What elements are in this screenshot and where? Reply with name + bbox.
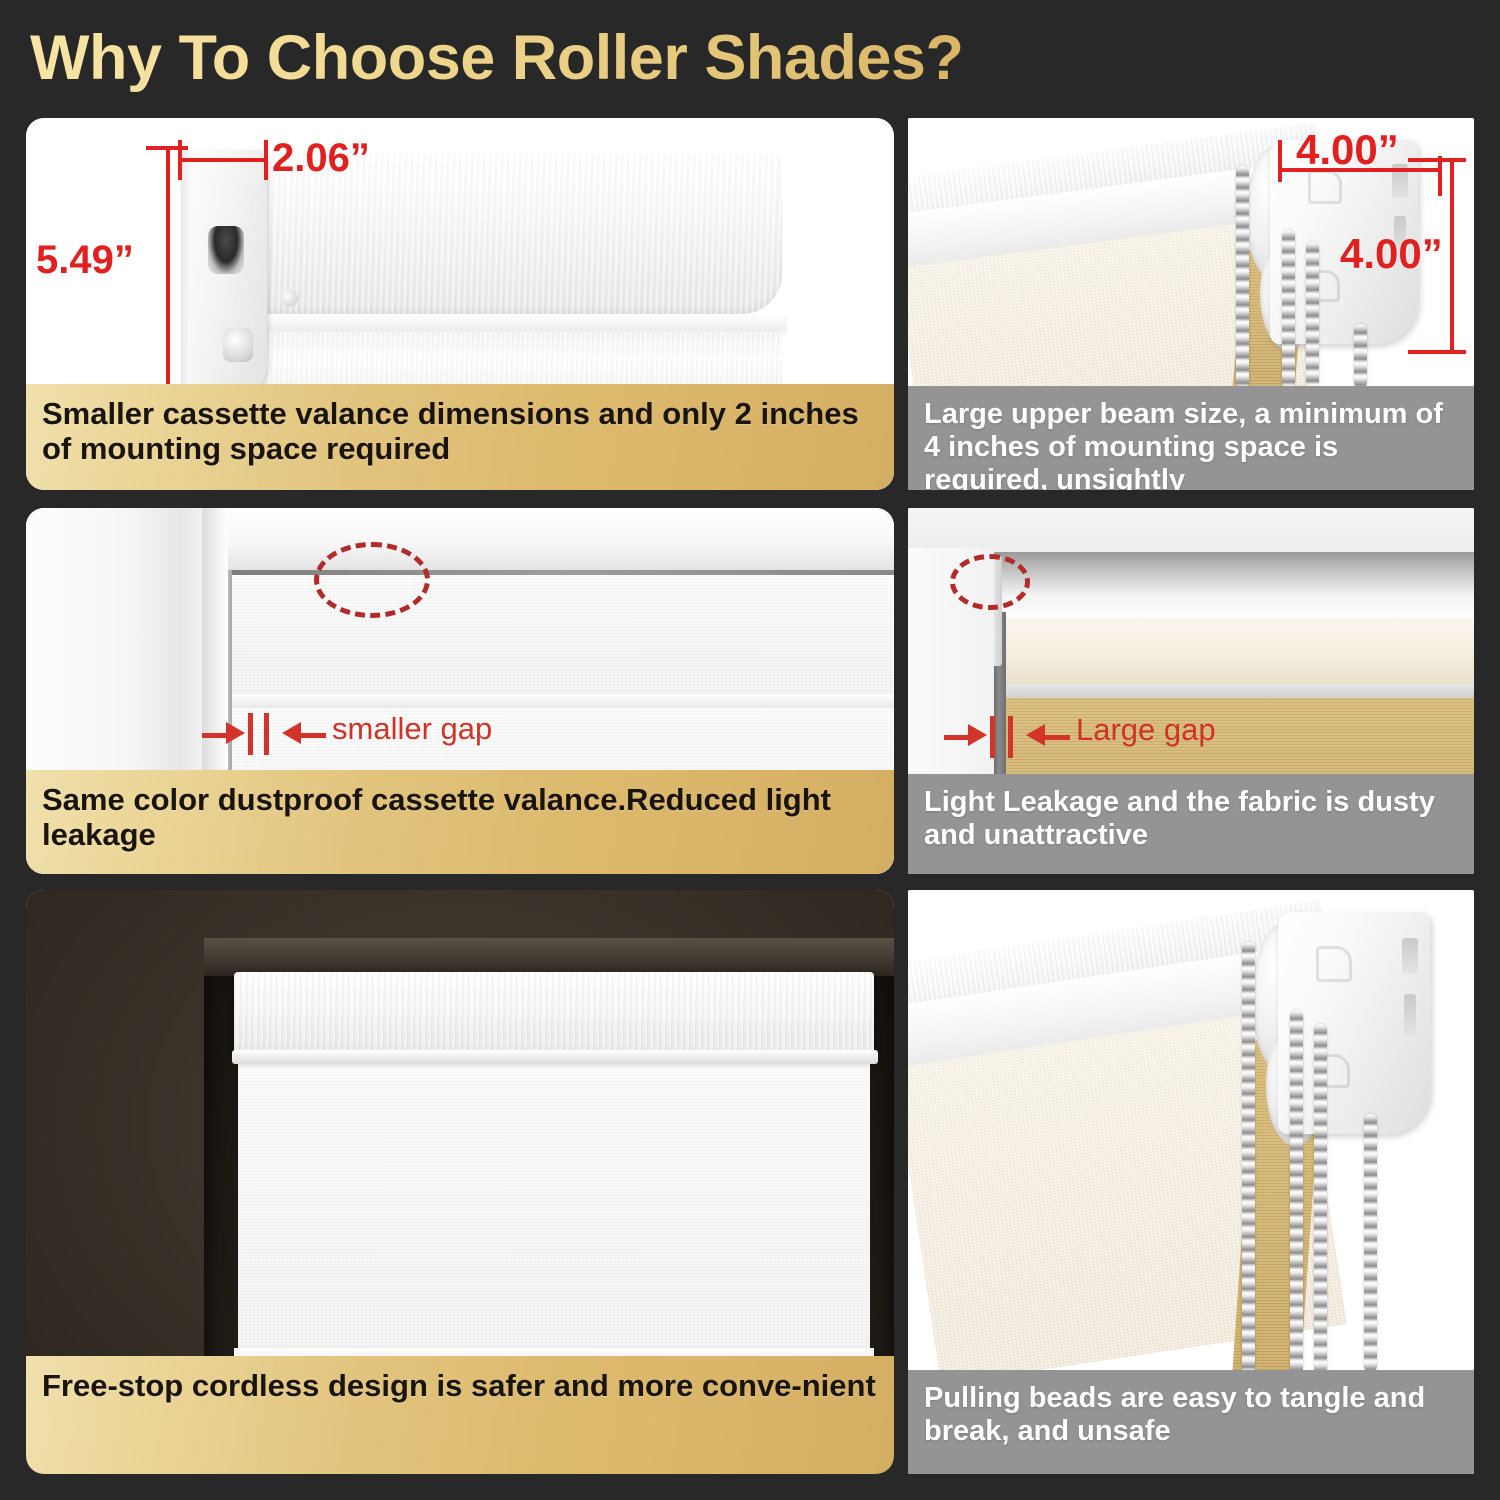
bead-chain-icon — [1290, 1010, 1303, 1374]
height-dimension-label: 5.49” — [36, 238, 134, 283]
bead-chain-icon — [1242, 942, 1255, 1374]
bead-chain-icon — [1354, 324, 1367, 388]
screw-boss-icon — [223, 328, 253, 362]
panel-con-large-upper-beam: 4.00” 4.00” Large upper beam size, a min… — [908, 118, 1474, 490]
highlight-ellipse-icon — [314, 542, 430, 618]
panel-pro-cordless-design: Free-stop cordless design is safer and m… — [26, 890, 894, 1474]
gap-callout-label: smaller gap — [332, 711, 492, 747]
panel-caption-pro-cassette-dimensions: Smaller cassette valance dimensions and … — [26, 384, 894, 490]
bead-chain-icon — [1314, 1024, 1327, 1374]
panel-pro-dustproof-valance: smaller gap Same color dustproof cassett… — [26, 508, 894, 874]
highlight-ellipse-icon — [950, 554, 1030, 610]
panel-caption-pro-cordless-design: Free-stop cordless design is safer and m… — [26, 1356, 894, 1474]
panel-con-pulling-beads: Pulling beads are easy to tangle and bre… — [908, 890, 1474, 1474]
gap-callout-label: Large gap — [1076, 712, 1216, 748]
bead-chain-icon — [1282, 230, 1295, 388]
panel-caption-con-large-upper-beam: Large upper beam size, a minimum of 4 in… — [908, 386, 1474, 490]
screw-icon — [281, 290, 298, 307]
panel-con-light-leakage: Large gap Light Leakage and the fabric i… — [908, 508, 1474, 874]
panel-caption-con-pulling-beads: Pulling beads are easy to tangle and bre… — [908, 1370, 1474, 1474]
bead-chain-icon — [1364, 1114, 1377, 1372]
bead-chain-icon — [1236, 166, 1249, 388]
width-dimension-label: 4.00” — [1296, 126, 1399, 174]
comparison-grid: 2.06” 5.49” Smaller cassette valance dim… — [0, 0, 1500, 1500]
bead-chain-icon — [1306, 242, 1319, 388]
panel-caption-con-light-leakage: Light Leakage and the fabric is dusty an… — [908, 774, 1474, 874]
width-dimension-label: 2.06” — [272, 136, 370, 181]
height-dimension-label: 4.00” — [1340, 230, 1443, 278]
panel-pro-cassette-dimensions: 2.06” 5.49” Smaller cassette valance dim… — [26, 118, 894, 490]
cord-port-icon — [208, 226, 244, 274]
panel-caption-pro-dustproof-valance: Same color dustproof cassette valance.Re… — [26, 770, 894, 874]
